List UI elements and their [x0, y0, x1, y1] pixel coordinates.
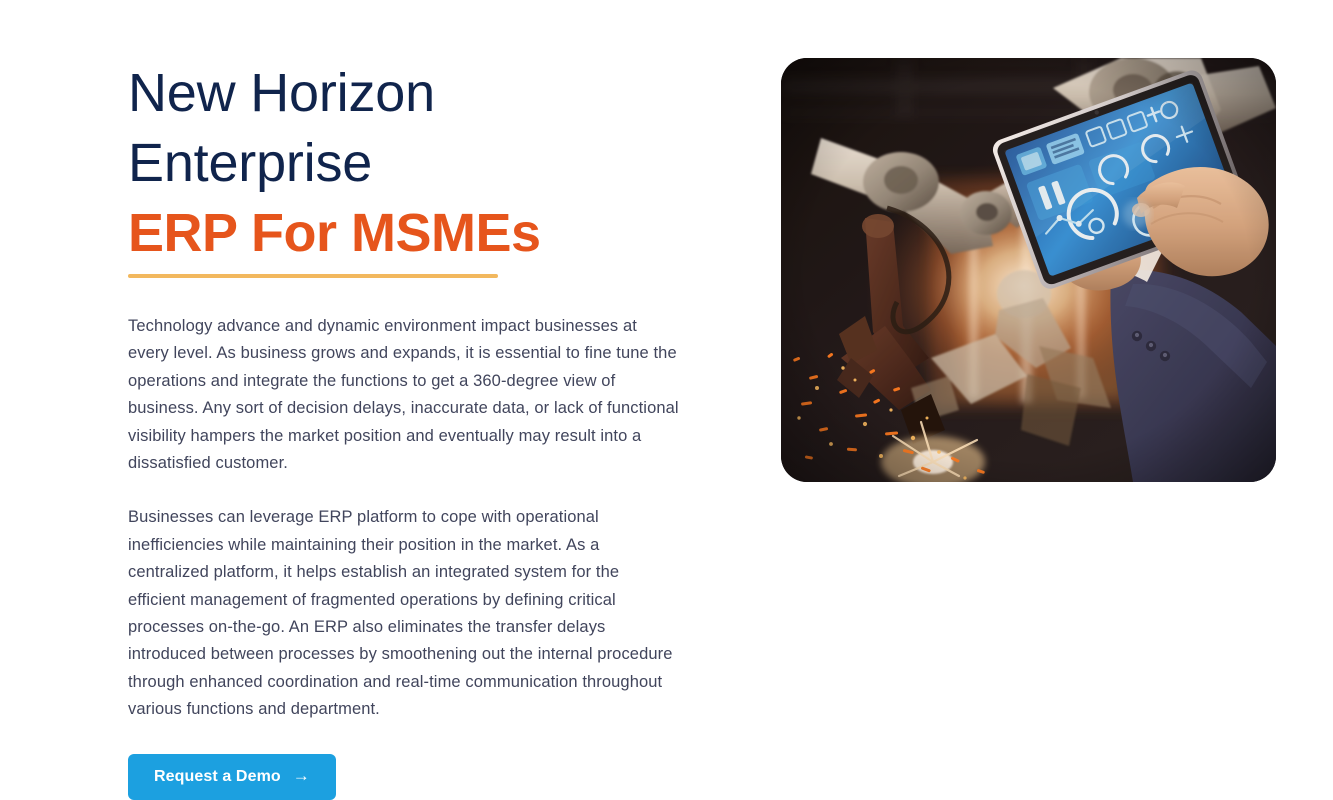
title-accent-text: ERP For MSMEs [128, 198, 541, 268]
page-title: New Horizon Enterprise ERP For MSMEs [128, 58, 680, 268]
title-line-2: Enterprise [128, 128, 680, 198]
title-underline [128, 274, 498, 278]
hero-copy-column: New Horizon Enterprise ERP For MSMEs Tec… [128, 58, 680, 800]
title-line-1: New Horizon [128, 58, 680, 128]
hero-section: New Horizon Enterprise ERP For MSMEs Tec… [0, 0, 1333, 787]
hero-paragraph-2: Businesses can leverage ERP platform to … [128, 504, 680, 723]
request-demo-button[interactable]: Request a Demo → [128, 754, 336, 800]
hero-paragraph-1: Technology advance and dynamic environme… [128, 313, 680, 477]
cta-container: Request a Demo → [128, 754, 680, 800]
arrow-right-icon: → [293, 767, 310, 784]
request-demo-label: Request a Demo [154, 768, 281, 786]
industrial-robotics-photo [781, 58, 1276, 482]
title-accent-line: ERP For MSMEs [128, 198, 680, 268]
industrial-robotics-illustration [781, 58, 1276, 482]
hero-image [781, 58, 1276, 482]
